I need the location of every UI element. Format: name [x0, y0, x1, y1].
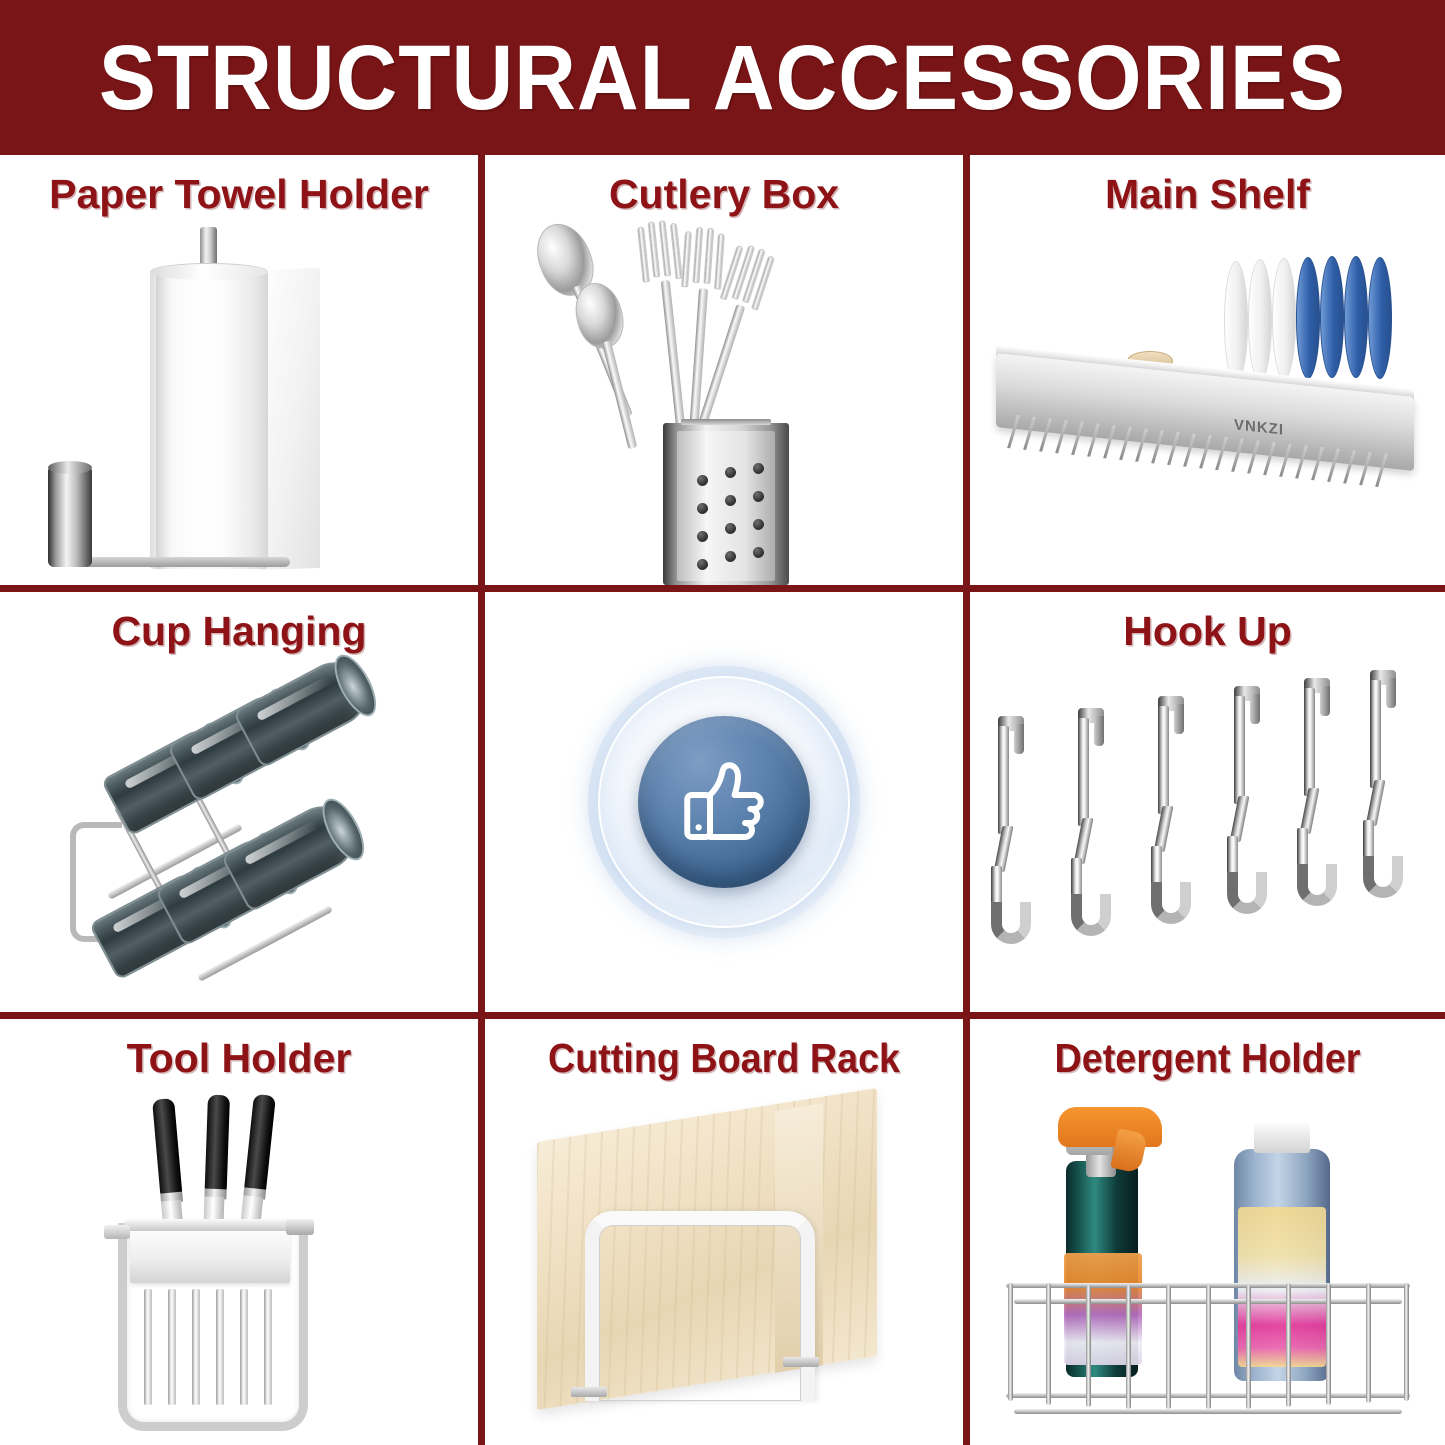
detergent-basket [1006, 1095, 1416, 1445]
plate-white [1224, 261, 1248, 383]
cell-main-shelf: Main Shelf [970, 155, 1445, 585]
drain-hole [697, 503, 708, 514]
wire-basket [1006, 1277, 1410, 1427]
board-rack [515, 1101, 935, 1445]
cell-label-paper-towel-holder: Paper Towel Holder [0, 173, 478, 216]
drain-hole [725, 495, 736, 506]
knife [254, 1094, 276, 1096]
cell-center-badge [485, 592, 963, 1012]
fork-tine [703, 228, 714, 284]
drain-hole [753, 519, 764, 530]
plate-blue [1320, 256, 1344, 378]
thumbs-up-icon [668, 746, 780, 858]
drain-hole [697, 559, 708, 570]
grid-divider-vertical [478, 1019, 485, 1445]
rack-stand [585, 1211, 815, 1401]
detergent-bottle-cap [1254, 1123, 1310, 1153]
feature-grid: Paper Towel Holder Cutlery Box [0, 155, 1445, 1445]
fork-stem [661, 280, 686, 430]
knife [208, 1095, 230, 1096]
knife [152, 1098, 174, 1100]
cell-label-tool-holder: Tool Holder [0, 1037, 478, 1080]
fork-tine [692, 227, 703, 283]
door-hook [990, 716, 1038, 946]
plate-blue [1296, 257, 1320, 379]
knife-handle [152, 1098, 182, 1196]
holder-rib [192, 1289, 200, 1405]
rack-foot [783, 1357, 819, 1367]
drain-hole [725, 467, 736, 478]
door-hook [1362, 670, 1410, 900]
cell-label-cutting-board-rack: Cutting Board Rack [504, 1037, 944, 1080]
spoon-stem [602, 340, 637, 449]
grid-divider-horizontal [0, 585, 1445, 592]
fork-tine [714, 233, 725, 289]
drain-hole [697, 531, 708, 542]
page-title: STRUCTURAL ACCESSORIES [99, 32, 1346, 124]
cell-label-detergent-holder: Detergent Holder [989, 1037, 1426, 1080]
knife-handle [205, 1095, 230, 1192]
drain-hole [753, 491, 764, 502]
cell-label-main-shelf: Main Shelf [970, 173, 1445, 216]
knife-handle [244, 1094, 276, 1192]
detergent-holder-image [970, 1091, 1445, 1445]
knife-holder [110, 1099, 370, 1445]
drain-hole [753, 547, 764, 558]
rack-foot [571, 1387, 607, 1397]
grid-divider-vertical [478, 155, 485, 585]
door-hook [1226, 686, 1274, 916]
hanging-glass [221, 795, 366, 913]
dish-rack: VNKZI [988, 247, 1428, 547]
main-shelf-image: VNKZI [970, 227, 1445, 585]
door-hook [1150, 696, 1198, 926]
hanging-glass [233, 651, 378, 769]
cell-cutting-board-rack: Cutting Board Rack [485, 1019, 963, 1445]
drain-hole [725, 523, 736, 534]
holder-rib [264, 1289, 272, 1405]
grid-divider-vertical [963, 155, 970, 585]
holder-rib [216, 1289, 224, 1405]
grid-divider-horizontal [0, 1012, 1445, 1019]
holder-rib [144, 1289, 152, 1405]
cell-hook-up: Hook Up [970, 592, 1445, 1012]
badge-button [638, 716, 810, 888]
holder-hook-left [104, 1225, 130, 1239]
cell-label-hook-up: Hook Up [970, 610, 1445, 653]
thumbs-up-badge [485, 592, 963, 1012]
grid-divider-vertical [478, 592, 485, 1012]
grid-divider-vertical [963, 1019, 970, 1445]
cell-label-cup-hanging: Cup Hanging [0, 610, 478, 653]
fork-tine [681, 231, 692, 287]
cell-detergent-holder: Detergent Holder [970, 1019, 1445, 1445]
plate-blue [1344, 256, 1368, 378]
cup-rack [70, 672, 430, 1012]
cell-paper-towel-holder: Paper Towel Holder [0, 155, 478, 585]
drain-hole [725, 551, 736, 562]
towel-roll [150, 269, 268, 569]
towel-base [58, 557, 290, 567]
cutlery-box-image [485, 227, 963, 585]
tool-holder-image [0, 1091, 478, 1445]
door-hook [1296, 678, 1344, 908]
plate-blue [1368, 257, 1392, 379]
holder-body [130, 1225, 290, 1283]
cutlery-box-slot [681, 419, 771, 425]
holder-rib [240, 1289, 248, 1405]
holder-rib [168, 1289, 176, 1405]
header-banner: STRUCTURAL ACCESSORIES [0, 0, 1445, 155]
badge-halo [588, 666, 860, 938]
grid-divider-vertical [963, 592, 970, 1012]
holder-cap [124, 1219, 298, 1231]
holder-hook-right [286, 1219, 314, 1235]
door-hook [1070, 708, 1118, 938]
product-infographic: STRUCTURAL ACCESSORIES Paper Towel Holde… [0, 0, 1445, 1445]
spray-trigger [1058, 1107, 1162, 1147]
plate-white [1272, 258, 1296, 380]
drain-hole [697, 475, 708, 486]
cutting-board-rack-image [485, 1091, 963, 1445]
towel-roll-top [150, 263, 268, 280]
plate-white [1248, 259, 1272, 381]
cell-cup-hanging: Cup Hanging [0, 592, 478, 1012]
cell-tool-holder: Tool Holder [0, 1019, 478, 1445]
towel-holder-cup [48, 467, 92, 567]
paper-towel-holder-image [0, 227, 478, 585]
hook-up-image [970, 664, 1445, 1012]
fork-tine [670, 223, 683, 279]
cell-label-cutlery-box: Cutlery Box [485, 173, 963, 216]
drain-hole [753, 463, 764, 474]
cup-hanging-image [0, 664, 478, 1012]
cell-cutlery-box: Cutlery Box [485, 155, 963, 585]
